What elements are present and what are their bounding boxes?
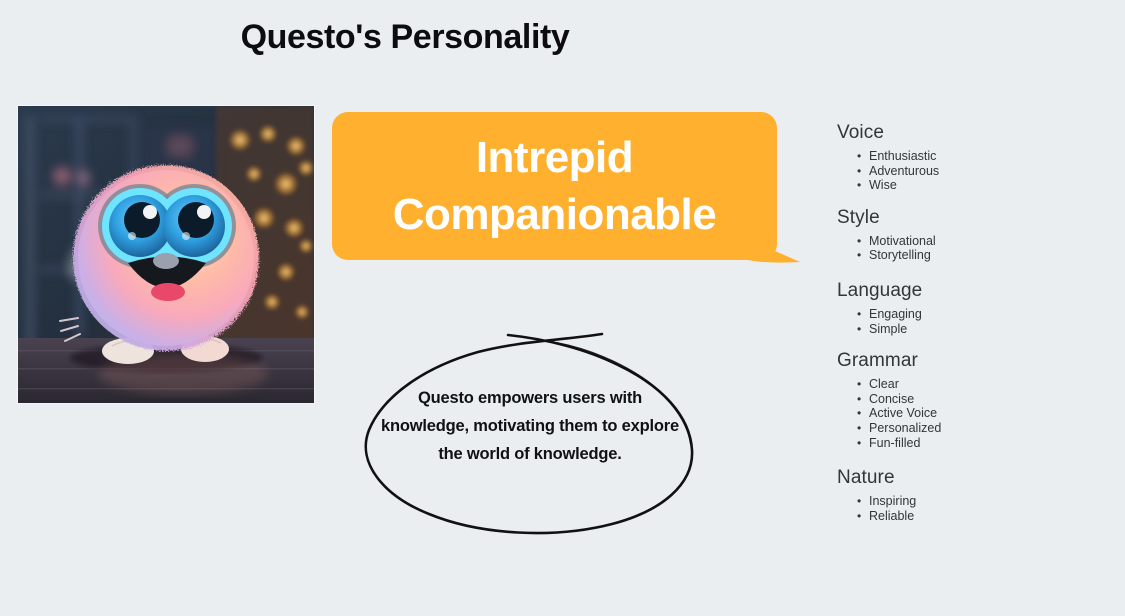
attr-group-voice: Voice Enthusiastic Adventurous Wise	[837, 122, 1107, 193]
attr-item: Reliable	[869, 509, 1107, 524]
attr-group-nature: Nature Inspiring Reliable	[837, 467, 1107, 523]
handdrawn-note: Questo empowers users with knowledge, mo…	[350, 318, 710, 550]
attr-item: Storytelling	[869, 248, 1107, 263]
attr-group-grammar: Grammar Clear Concise Active Voice Perso…	[837, 350, 1107, 450]
page-title: Questo's Personality	[0, 18, 810, 57]
speech-bubble: IntrepidCompanionable	[332, 112, 777, 260]
attr-list-voice: Enthusiastic Adventurous Wise	[837, 149, 1107, 193]
attr-heading-nature: Nature	[837, 467, 1107, 489]
attr-item: Active Voice	[869, 406, 1107, 421]
handdrawn-note-text: Questo empowers users with knowledge, mo…	[380, 384, 680, 468]
attr-item: Adventurous	[869, 164, 1107, 179]
attr-item: Fun-filled	[869, 436, 1107, 451]
attr-list-language: Engaging Simple	[837, 307, 1107, 336]
attr-item: Simple	[869, 322, 1107, 337]
attr-list-style: Motivational Storytelling	[837, 234, 1107, 263]
attr-item: Concise	[869, 392, 1107, 407]
attr-item: Inspiring	[869, 494, 1107, 509]
questo-mascot-image	[18, 106, 314, 403]
mascot-illustration	[18, 106, 314, 403]
speech-bubble-body: IntrepidCompanionable	[332, 112, 777, 260]
attr-item: Wise	[869, 178, 1107, 193]
attr-heading-language: Language	[837, 280, 1107, 302]
speech-bubble-text: IntrepidCompanionable	[379, 129, 731, 243]
attr-list-grammar: Clear Concise Active Voice Personalized …	[837, 377, 1107, 450]
attr-group-language: Language Engaging Simple	[837, 280, 1107, 336]
attr-heading-voice: Voice	[837, 122, 1107, 144]
attr-item: Clear	[869, 377, 1107, 392]
attr-item: Personalized	[869, 421, 1107, 436]
attr-list-nature: Inspiring Reliable	[837, 494, 1107, 523]
personality-attributes: Voice Enthusiastic Adventurous Wise Styl…	[837, 122, 1107, 537]
attr-heading-grammar: Grammar	[837, 350, 1107, 372]
attr-item: Motivational	[869, 234, 1107, 249]
speech-bubble-line-2: Companionable	[393, 190, 717, 239]
attr-item: Engaging	[869, 307, 1107, 322]
attr-item: Enthusiastic	[869, 149, 1107, 164]
attr-group-style: Style Motivational Storytelling	[837, 207, 1107, 263]
speech-bubble-line-1: Intrepid	[476, 133, 633, 182]
attr-heading-style: Style	[837, 207, 1107, 229]
